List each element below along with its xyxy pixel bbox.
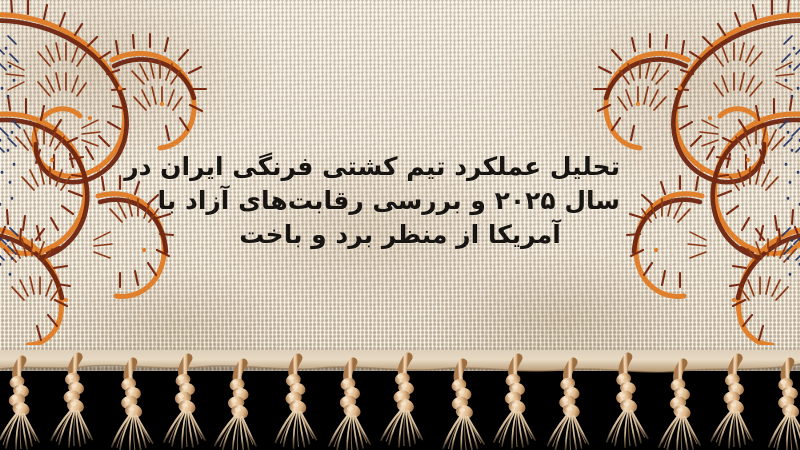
textile-banner-image: تحلیل عملکرد تیم کشتی فرنگی ایران در سال… xyxy=(0,0,800,450)
knotted-tassel-fringe xyxy=(0,350,800,450)
title-line-3: آمریکا از منظر برد و باخت xyxy=(180,218,620,252)
banner-title: تحلیل عملکرد تیم کشتی فرنگی ایران در سال… xyxy=(0,150,800,252)
title-line-1: تحلیل عملکرد تیم کشتی فرنگی ایران در xyxy=(180,150,620,184)
tassel-row xyxy=(0,356,800,450)
title-line-2: سال ۲۰۲۵ و بررسی رقابت‌های آزاد با xyxy=(180,184,620,218)
